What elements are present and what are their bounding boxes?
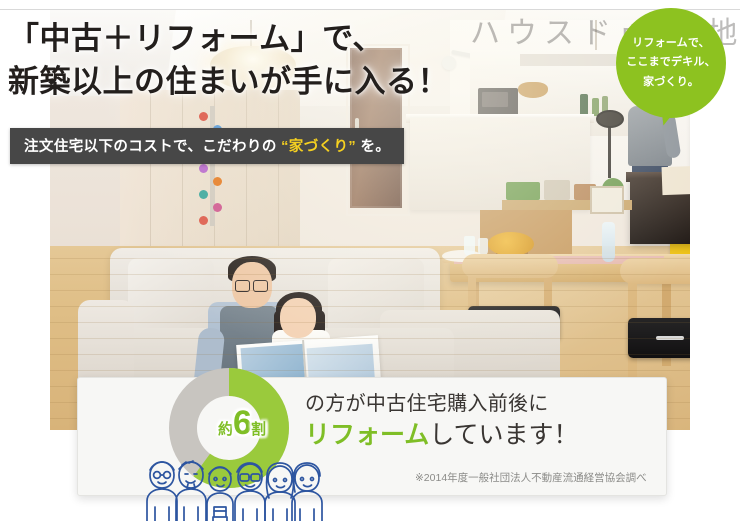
subheadline-after: を。	[356, 139, 390, 155]
toy-rack-bead	[213, 203, 222, 212]
headline-line-1: 「中古＋リフォーム」で、	[8, 18, 528, 61]
badge-text: リフォームで、 ここまでデキル、 家づくり。	[616, 34, 726, 92]
badge-line-3: 家づくり。	[616, 73, 726, 92]
promo-badge[interactable]: リフォームで、 ここまでデキル、 家づくり。	[616, 8, 734, 126]
statistic-line-2-green: リフォーム	[305, 421, 429, 449]
subheadline-before: 注文住宅以下のコストで、こだわりの	[24, 139, 281, 155]
family-illustration-icon	[144, 455, 324, 521]
statistic-text: の方が中古住宅購入前後に リフォームしています！	[305, 392, 675, 452]
headline-line-2: 新築以上の住まいが手に入る！	[8, 61, 528, 104]
badge-line-1: リフォームで、	[616, 34, 726, 53]
daughter-figure	[280, 298, 316, 338]
toy-rack-bead	[199, 216, 208, 225]
subheadline-highlight: “家づくり”	[281, 139, 356, 155]
statistic-line-2: リフォームしています！	[305, 419, 675, 452]
floor-plank-line	[50, 354, 690, 355]
statistic-line-1: の方が中古住宅購入前後に	[305, 392, 675, 417]
floor-plank-line	[50, 370, 690, 371]
floor-plank-line	[50, 274, 690, 275]
statistic-line-2-rest: しています！	[429, 421, 578, 449]
statistic-source-note: ※2014年度一般社団法人不動産流通経営協会調べ	[415, 470, 647, 485]
floor-plank-line	[50, 306, 690, 307]
subheadline-banner: 注文住宅以下のコストで、こだわりの “家づくり” を。	[10, 128, 404, 164]
toy-rack-bead	[199, 112, 208, 121]
toy-rack-bead	[213, 177, 222, 186]
floor-plank-line	[50, 322, 690, 323]
floor-plank-line	[50, 290, 690, 291]
page-title: 「中古＋リフォーム」で、 新築以上の住まいが手に入る！	[8, 18, 528, 104]
floor-plank-line	[50, 258, 690, 259]
dining-chair	[620, 258, 690, 284]
donut-label-suffix: 割	[251, 421, 266, 438]
donut-label-prefix: 約	[218, 421, 233, 438]
toy-rack-bead	[199, 190, 208, 199]
advertisement-banner: ハウスドゥ 中地南 「中古＋リフォーム」で、 新築以上の住まいが手に入る！ 注文…	[0, 0, 740, 525]
floor-plank-line	[50, 338, 690, 339]
badge-line-2: ここまでデキル、	[616, 53, 726, 72]
toy-rack-bead	[199, 164, 208, 173]
six-people-outline-icon	[144, 455, 324, 521]
donut-value-label: 約6割	[218, 404, 266, 443]
donut-label-value: 6	[233, 404, 251, 442]
